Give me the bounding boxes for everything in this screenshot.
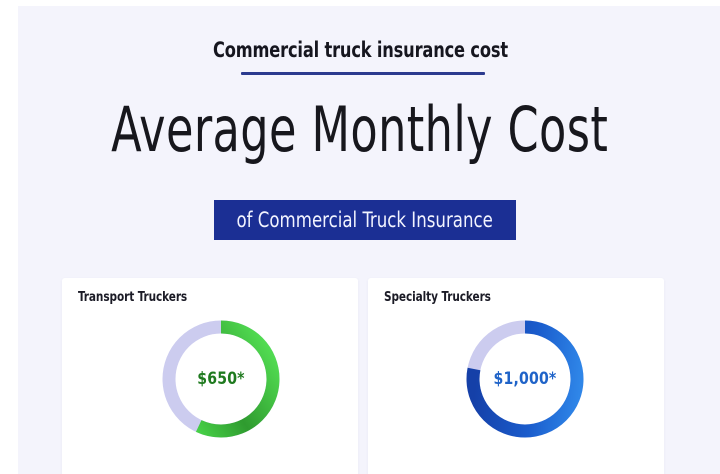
- card-title: Specialty Truckers: [384, 290, 491, 305]
- page-title: Average Monthly Cost: [111, 98, 608, 161]
- donut-svg: [458, 312, 592, 446]
- headline-row: Average Monthly Cost: [0, 98, 720, 161]
- donut-svg: [154, 312, 288, 446]
- infographic-page: Commercial truck insurance cost Average …: [0, 0, 720, 474]
- kicker-title: Commercial truck insurance cost: [213, 38, 508, 62]
- card-title: Transport Truckers: [78, 290, 187, 305]
- kicker-underline: [241, 72, 485, 75]
- kicker-row: Commercial truck insurance cost: [0, 38, 720, 62]
- subtitle-banner-label: of Commercial Truck Insurance: [237, 208, 493, 232]
- cost-card-transport-truckers: Transport Truckers $650*: [62, 278, 358, 474]
- donut-chart-specialty-truckers: $1,000*: [458, 312, 592, 446]
- cost-card-specialty-truckers: Specialty Truckers $1,000*: [368, 278, 664, 474]
- donut-chart-transport-truckers: $650*: [154, 312, 288, 446]
- subtitle-banner: of Commercial Truck Insurance: [214, 200, 516, 240]
